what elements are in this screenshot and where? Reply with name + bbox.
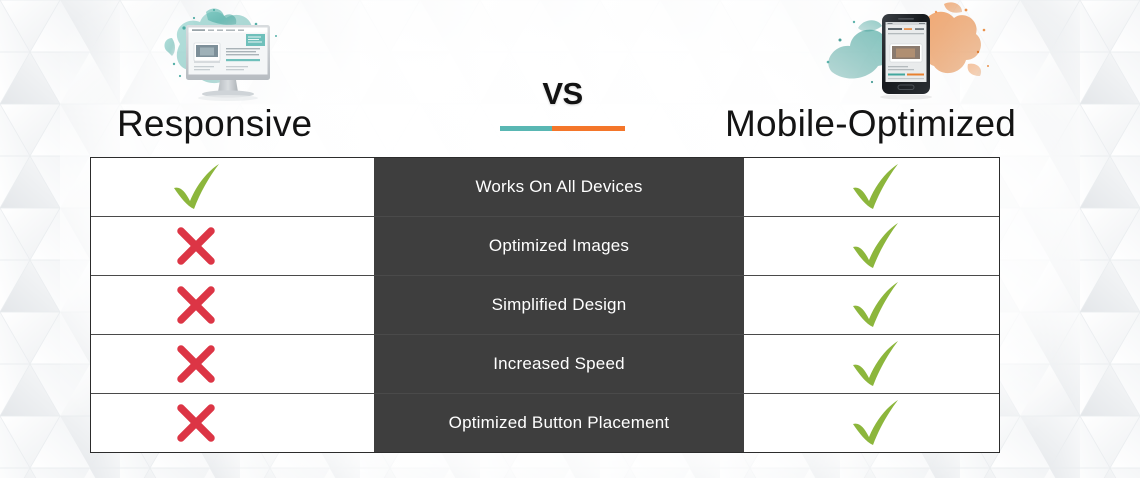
vs-label: VS	[500, 78, 625, 109]
mobile-cell	[744, 217, 999, 275]
table-row: Simplified Design	[91, 276, 999, 335]
feature-label: Optimized Images	[374, 217, 744, 275]
table-row: Optimized Images	[91, 217, 999, 276]
comparison-table: Works On All Devices Optimized Images	[90, 157, 1000, 453]
right-column-title: Mobile-Optimized	[725, 105, 1016, 142]
smartphone-icon	[818, 0, 994, 106]
red-cross-icon	[174, 401, 218, 445]
vs-bar-orange-segment	[552, 126, 625, 131]
vs-divider: VS	[500, 78, 625, 109]
table-row: Works On All Devices	[91, 158, 999, 217]
mobile-cell	[744, 158, 999, 216]
table-row: Increased Speed	[91, 335, 999, 394]
feature-label: Increased Speed	[374, 335, 744, 393]
feature-label: Optimized Button Placement	[374, 394, 744, 452]
vs-bar-teal-segment	[500, 126, 552, 131]
green-check-icon	[847, 280, 903, 330]
left-column-title: Responsive	[117, 105, 312, 142]
responsive-cell	[91, 394, 374, 452]
vs-underline-bar	[500, 126, 625, 131]
green-check-icon	[847, 162, 903, 212]
feature-label: Works On All Devices	[374, 158, 744, 216]
responsive-cell	[91, 217, 374, 275]
red-cross-icon	[174, 342, 218, 386]
green-check-icon	[168, 162, 224, 212]
table-row: Optimized Button Placement	[91, 394, 999, 452]
green-check-icon	[847, 221, 903, 271]
green-check-icon	[847, 339, 903, 389]
red-cross-icon	[174, 283, 218, 327]
mobile-cell	[744, 276, 999, 334]
desktop-monitor-icon	[150, 4, 300, 104]
responsive-cell	[91, 158, 374, 216]
responsive-cell	[91, 335, 374, 393]
red-cross-icon	[174, 224, 218, 268]
mobile-cell	[744, 394, 999, 452]
green-check-icon	[847, 398, 903, 448]
responsive-cell	[91, 276, 374, 334]
mobile-cell	[744, 335, 999, 393]
feature-label: Simplified Design	[374, 276, 744, 334]
